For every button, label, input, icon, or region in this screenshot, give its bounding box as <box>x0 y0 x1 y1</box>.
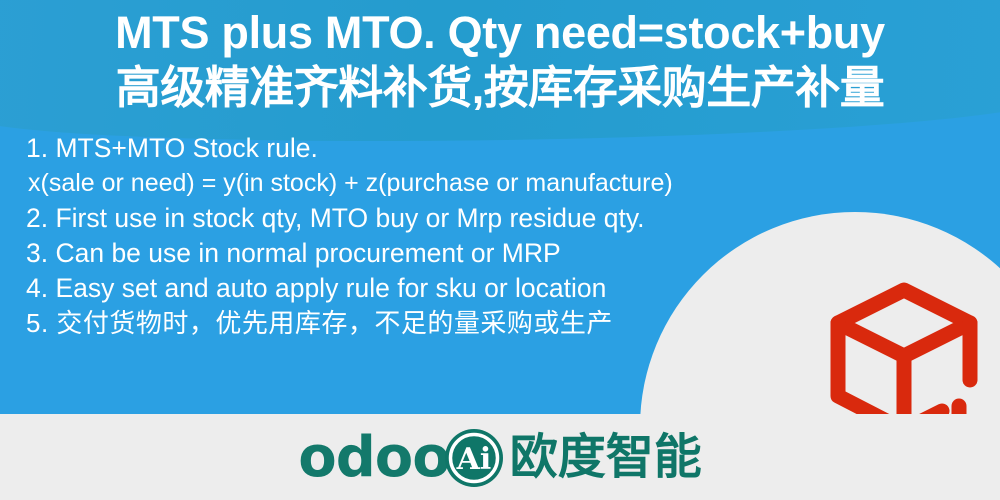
brand-logo: odoo Ai 欧度智能 <box>0 420 1000 496</box>
svg-text:Ai: Ai <box>455 442 491 477</box>
brand-cn-text: 欧度智能 <box>510 430 702 486</box>
header-background <box>0 0 1000 149</box>
list-item: 1. MTS+MTO Stock rule. <box>26 131 986 166</box>
promo-banner: MTS plus MTO. Qty need=stock+buy 高级精准齐料补… <box>0 0 1000 500</box>
list-item: 3. Can be use in normal procurement or M… <box>26 236 986 271</box>
ai-badge-icon: Ai <box>444 428 504 488</box>
brand-odoo-text: odoo <box>298 428 450 488</box>
list-item-formula: x(sale or need) = y(in stock) + z(purcha… <box>28 166 986 201</box>
list-item: 2. First use in stock qty, MTO buy or Mr… <box>26 201 986 236</box>
